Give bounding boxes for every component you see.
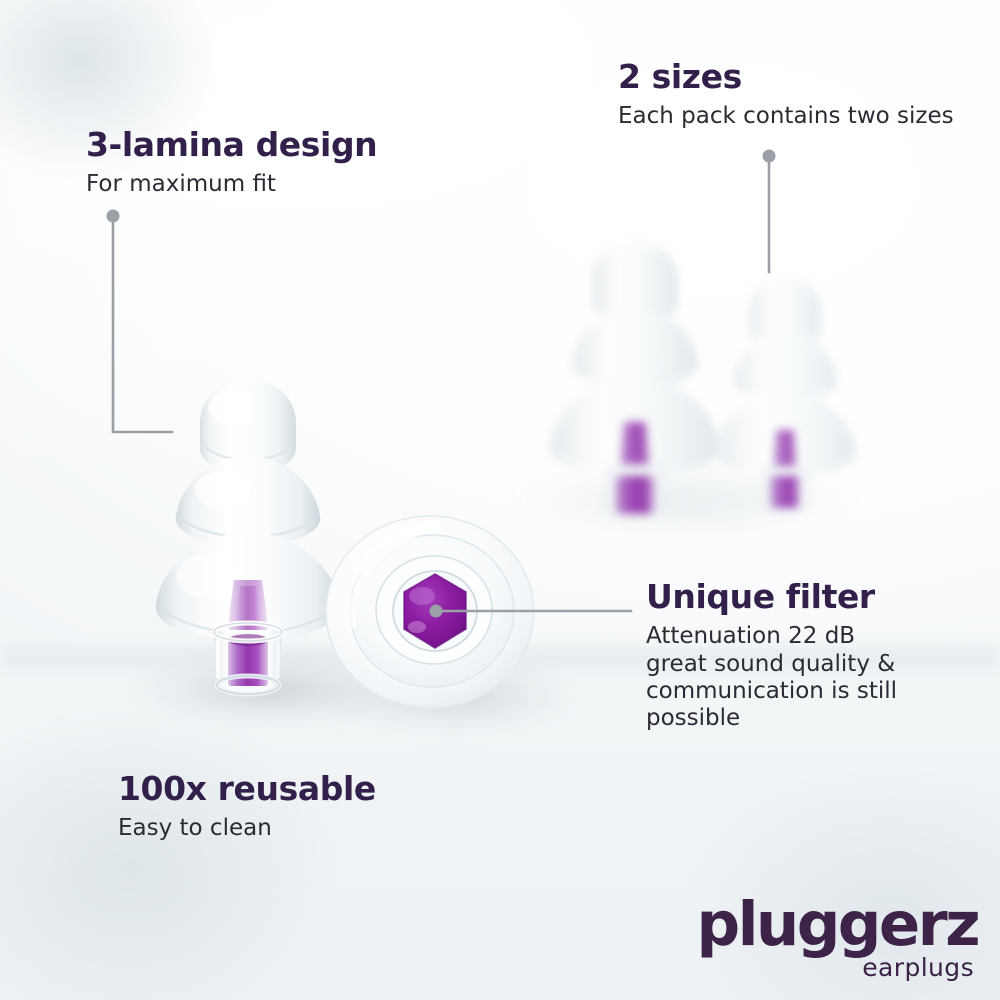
background-earplug-small [705, 272, 865, 522]
callout-reusable: 100x reusable Easy to clean [118, 772, 376, 843]
callout-reusable-title: 100x reusable [118, 772, 376, 806]
callout-reusable-body: Easy to clean [118, 815, 376, 842]
callout-lamina-title: 3-lamina design [86, 128, 377, 162]
corner-vignette-bottom-left [0, 700, 340, 1000]
callout-filter-line-2: great sound quality & [646, 651, 897, 678]
callout-filter-title: Unique filter [646, 580, 897, 614]
callout-filter-line-1: Attenuation 22 dB [646, 623, 897, 650]
callout-filter-line-4: possible [646, 705, 897, 732]
callout-lamina-body: For maximum fit [86, 171, 377, 198]
brand-logo: pluggerz earplugs [697, 897, 979, 980]
background-earplug-large [540, 236, 730, 526]
logo-wordmark: pluggerz [697, 897, 979, 953]
callout-unique-filter: Unique filter Attenuation 22 dB great so… [646, 580, 897, 733]
callout-filter-body: Attenuation 22 dB great sound quality & … [646, 623, 897, 732]
callout-filter-line-3: communication is still [646, 678, 897, 705]
front-earplug-filter-face [322, 512, 552, 712]
callout-two-sizes: 2 sizes Each pack contains two sizes [618, 60, 954, 131]
product-infographic: 3-lamina design For maximum fit 2 sizes … [0, 0, 1000, 1000]
callout-sizes-title: 2 sizes [618, 60, 954, 94]
callout-sizes-body: Each pack contains two sizes [618, 103, 954, 130]
callout-lamina-design: 3-lamina design For maximum fit [86, 128, 377, 199]
